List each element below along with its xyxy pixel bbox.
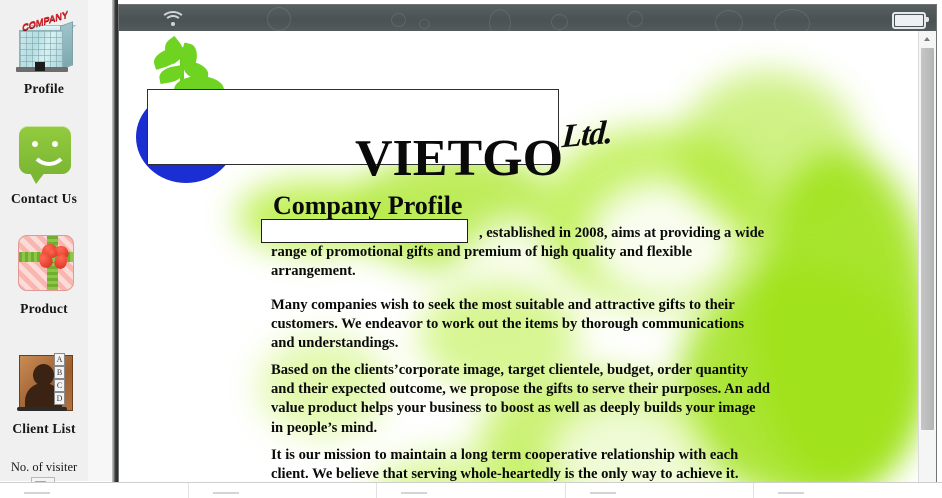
address-tab-a: A: [54, 353, 65, 366]
gift-box-icon: [13, 232, 75, 298]
address-tab-c: C: [54, 379, 65, 392]
sidebar-item-product[interactable]: Product: [0, 232, 88, 317]
brand-name: VIETGO: [355, 129, 563, 188]
sidebar-item-profile[interactable]: COMPANY Profile: [0, 12, 88, 97]
taskbar-segment[interactable]: [754, 483, 942, 498]
sidebar-item-label-client-list: Client List: [12, 421, 75, 437]
vertical-scrollbar[interactable]: [918, 31, 936, 493]
wifi-icon: [161, 10, 185, 28]
sidebar-item-label-profile: Profile: [24, 81, 64, 97]
document-page: VIETGO Ltd. Company Profile , establishe…: [119, 31, 919, 493]
page-title: Company Profile: [273, 191, 462, 221]
sidebar-item-label-product: Product: [20, 301, 68, 317]
document-viewer-panel: VIETGO Ltd. Company Profile , establishe…: [118, 4, 937, 493]
brand-suffix: Ltd.: [561, 115, 614, 157]
paragraph-3: Based on the clients’corporate image, ta…: [271, 361, 771, 438]
sidebar-item-label-contact-us: Contact Us: [11, 191, 77, 207]
scroll-up-arrow-icon[interactable]: [919, 31, 936, 47]
sidebar-item-client-list[interactable]: A B C D Client List: [0, 352, 88, 437]
taskbar-segment[interactable]: [566, 483, 755, 498]
paragraph-4: It is our mission to maintain a long ter…: [271, 446, 771, 484]
battery-icon: [892, 12, 926, 29]
company-building-icon: COMPANY: [13, 12, 75, 78]
sidebar: COMPANY Profile Contact Us: [0, 0, 88, 481]
address-tab-d: D: [54, 392, 65, 405]
taskbar-segment[interactable]: [189, 483, 378, 498]
scrollbar-thumb[interactable]: [921, 48, 934, 430]
address-tab-b: B: [54, 366, 65, 379]
paragraph-1: , established in 2008, aims at providing…: [271, 224, 771, 282]
taskbar: [0, 482, 942, 498]
screen: COMPANY Profile Contact Us: [0, 0, 942, 498]
address-book-icon: A B C D: [13, 352, 75, 418]
visiter-counter-label: No. of visiter: [0, 460, 88, 475]
device-status-bar: [119, 5, 937, 31]
paragraph-2: Many companies wish to seek the most sui…: [271, 296, 771, 354]
sidebar-filler-strip: [88, 0, 112, 481]
sidebar-item-contact-us[interactable]: Contact Us: [0, 122, 88, 207]
taskbar-segment[interactable]: [0, 483, 189, 498]
speech-bubble-smile-icon: [13, 122, 75, 188]
taskbar-segment[interactable]: [377, 483, 566, 498]
